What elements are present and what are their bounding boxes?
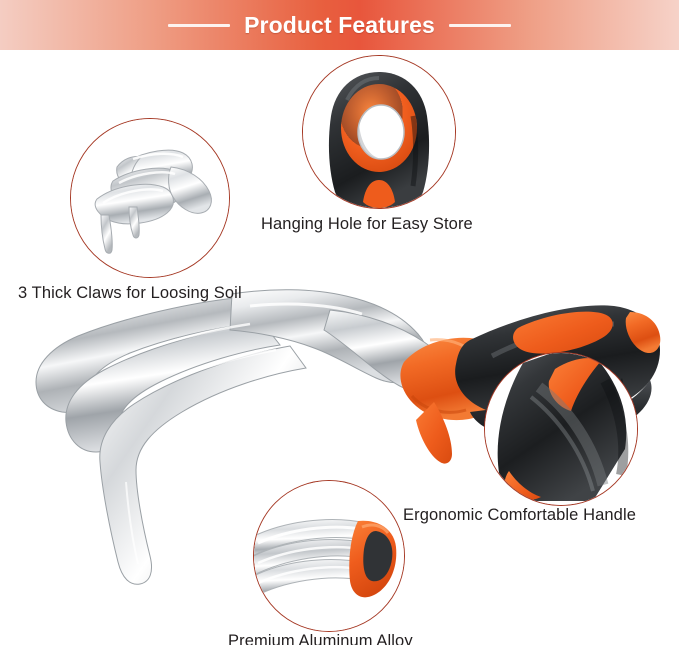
callout-claws-circle — [70, 118, 230, 278]
hanging-hole-illustration — [303, 56, 455, 208]
header-inner: Product Features — [0, 0, 679, 50]
page-title: Product Features — [244, 12, 435, 39]
callout-claws-caption: 3 Thick Claws for Loosing Soil — [18, 284, 242, 303]
aluminum-shaft-illustration — [254, 481, 404, 631]
callout-hanging-hole-circle — [302, 55, 456, 209]
header-rule-left — [168, 24, 230, 27]
callout-handle-circle — [484, 352, 638, 506]
product-features-infographic: Product Features — [0, 0, 679, 645]
claw-closeup-illustration — [71, 119, 229, 277]
header-rule-right — [449, 24, 511, 27]
header-banner: Product Features — [0, 0, 679, 50]
callout-handle-caption: Ergonomic Comfortable Handle — [403, 506, 636, 525]
callout-aluminum-alloy-caption: Premium Aluminum Alloy — [228, 632, 413, 645]
callout-hanging-hole-caption: Hanging Hole for Easy Store — [261, 215, 473, 234]
callout-aluminum-alloy-circle — [253, 480, 405, 632]
handle-closeup-illustration — [485, 353, 637, 505]
